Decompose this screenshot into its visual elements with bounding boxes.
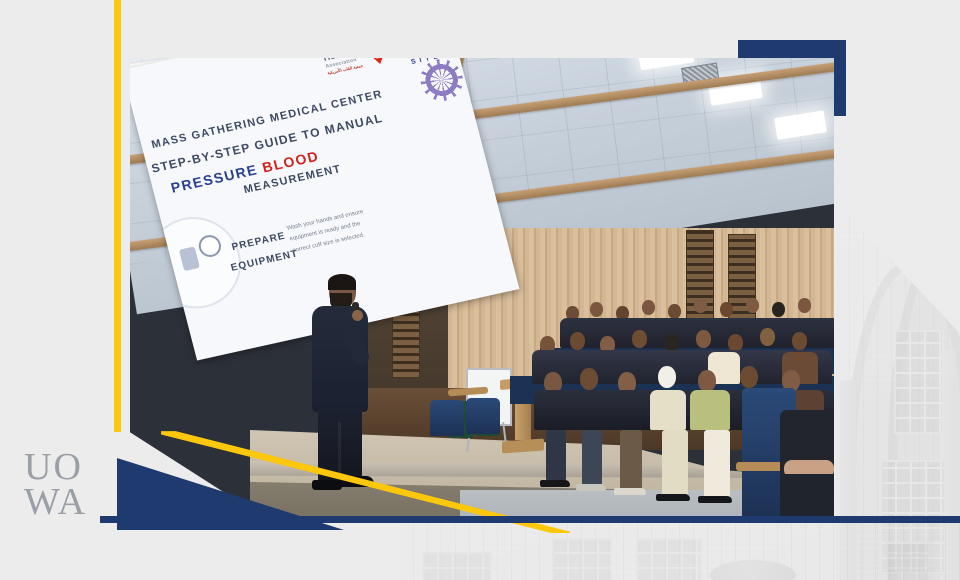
foreground-attendee (780, 410, 834, 520)
audience-leg (582, 430, 602, 486)
attendee-leg (780, 474, 834, 520)
slide-body-text: Wash your hands and ensure equipment is … (286, 198, 412, 257)
audience-shoe (540, 480, 570, 487)
navy-underline (100, 516, 960, 523)
logo-line-1: UO (24, 452, 116, 483)
audience-head (760, 328, 775, 346)
presenter-hand (352, 310, 363, 321)
blue-auditorium-seat (466, 398, 500, 434)
audience-head (720, 302, 733, 317)
window-b2 (552, 538, 612, 580)
audience-leg (704, 430, 730, 498)
step-label-prepare: PREPARE (231, 231, 287, 253)
audience-head-hijab (658, 366, 676, 388)
presenter-with-microphone (308, 276, 374, 494)
audience-head (746, 298, 759, 313)
audience-head (580, 368, 598, 390)
audience-head (792, 332, 807, 350)
audience-head (668, 304, 681, 319)
logo-line-2: WA (24, 487, 116, 518)
audience-leg (620, 430, 642, 490)
window-b1 (422, 552, 492, 580)
window-b4 (886, 542, 930, 580)
window-b3 (636, 538, 702, 580)
audience-head (798, 298, 811, 313)
audience-head (590, 302, 603, 317)
audience-shoe (698, 496, 732, 503)
audience-leg (546, 430, 566, 482)
audience-head (570, 332, 585, 350)
audience-cream-abaya (650, 390, 686, 430)
heart-icon (360, 58, 393, 67)
campus-building-watermark (400, 520, 960, 580)
audience-shoe (614, 488, 646, 495)
audience-head (698, 370, 716, 392)
presenter-hair (328, 274, 356, 290)
audience-shoe (576, 484, 606, 491)
audience-head (642, 300, 655, 315)
audience-head (694, 298, 707, 313)
arched-building-watermark (836, 140, 960, 580)
blue-auditorium-seat (430, 400, 464, 436)
audience-leg (662, 430, 688, 496)
step-label-equipment: EQUIPMENT (230, 248, 300, 273)
banner-canvas: American Heart Association جمعية القلب ا… (0, 0, 960, 580)
audience-olive-sweater (690, 390, 730, 430)
uowa-logo[interactable]: UO WA (24, 452, 116, 528)
window-upper (894, 330, 944, 434)
audience-head (696, 330, 711, 348)
yellow-vertical-rule (114, 0, 121, 432)
audience-shoe (656, 494, 690, 501)
audience-head (772, 302, 785, 317)
audience-head (632, 330, 647, 348)
audience-head (740, 366, 758, 388)
aha-wordmark: American Heart Association جمعية القلب ا… (320, 58, 363, 76)
